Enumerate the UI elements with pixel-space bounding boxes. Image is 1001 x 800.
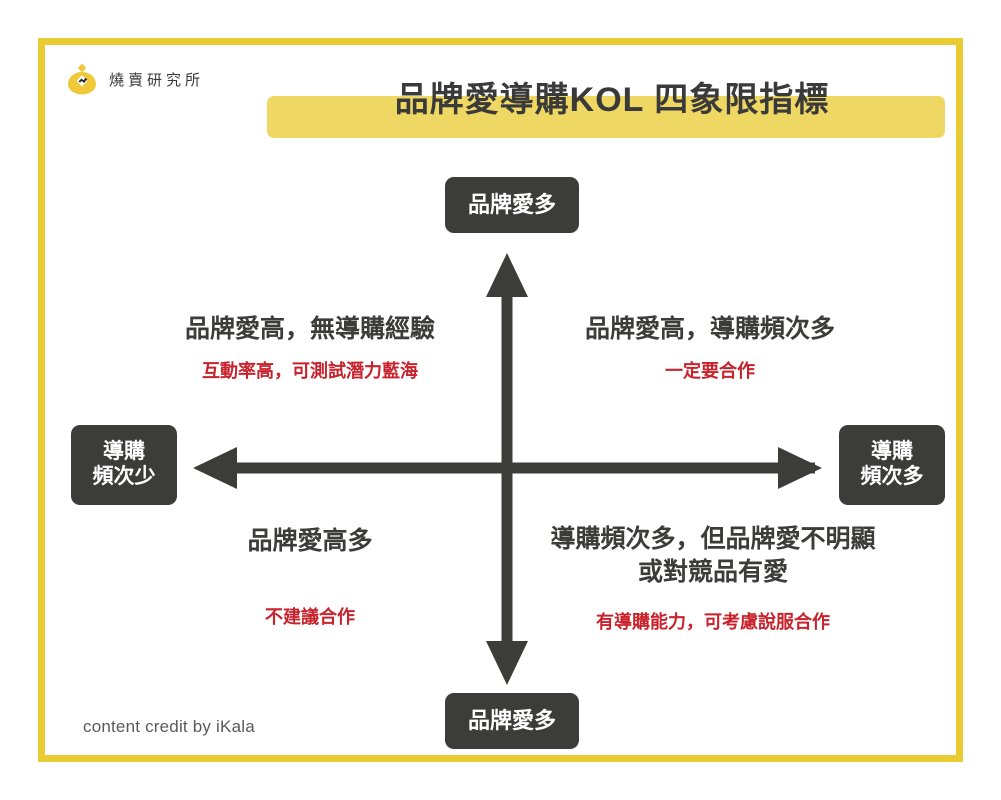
quadrant-bottom-left: 品牌愛高多 不建議合作 [115,525,505,629]
axis-label-left-line1: 導購 [103,440,145,465]
quadrant-bottom-right-title: 導購頻次多，但品牌愛不明顯 或對競品有愛 [511,523,915,589]
quadrant-top-left: 品牌愛高，無導購經驗 互動率高，可測試潛力藍海 [115,313,505,383]
axis-label-right-line2: 頻次多 [861,465,924,490]
quadrant-top-right-title: 品牌愛高，導購頻次多 [515,313,905,346]
quadrant-bottom-left-title: 品牌愛高多 [115,525,505,558]
quadrant-top-left-subtitle: 互動率高，可測試潛力藍海 [115,360,505,383]
content-credit: content credit by iKala [83,717,255,737]
quadrant-bottom-left-subtitle: 不建議合作 [115,606,505,629]
quadrant-axes [45,45,970,769]
axis-label-right: 導購 頻次多 [839,425,945,505]
axis-label-top: 品牌愛多 [445,177,579,233]
axis-label-left-line2: 頻次少 [93,465,156,490]
axis-label-right-line1: 導購 [871,440,913,465]
axis-label-left: 導購 頻次少 [71,425,177,505]
quadrant-top-right: 品牌愛高，導購頻次多 一定要合作 [515,313,905,383]
quadrant-bottom-right: 導購頻次多，但品牌愛不明顯 或對競品有愛 有導購能力，可考慮說服合作 [511,523,915,634]
poster-frame: 燒賣研究所 品牌愛導購KOL 四象限指標 品牌愛多 品牌愛多 導購 頻次少 導購… [38,38,963,762]
axis-label-bottom: 品牌愛多 [445,693,579,749]
axis-label-bottom-text: 品牌愛多 [468,708,556,734]
axis-label-top-text: 品牌愛多 [468,192,556,218]
quadrant-bottom-right-subtitle: 有導購能力，可考慮說服合作 [511,611,915,634]
quadrant-top-left-title: 品牌愛高，無導購經驗 [115,313,505,346]
quadrant-top-right-subtitle: 一定要合作 [515,360,905,383]
